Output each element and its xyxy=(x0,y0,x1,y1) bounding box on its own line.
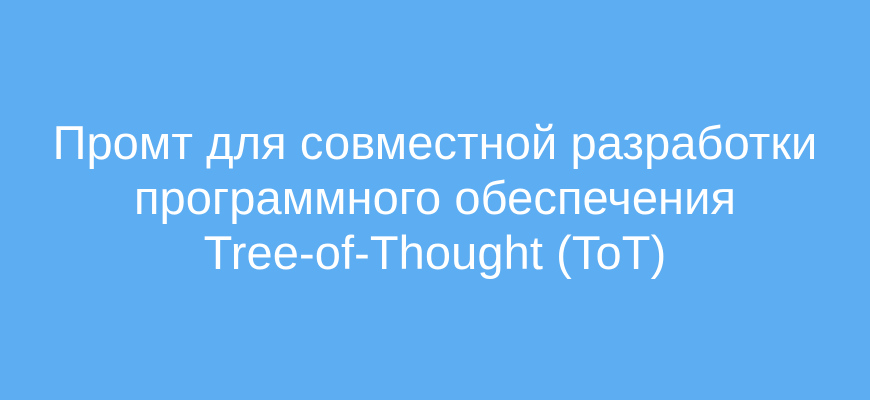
title-card: Промт для совместной разработки программ… xyxy=(0,0,870,400)
page-title-line-2: программного обеспечения xyxy=(40,170,830,225)
page-title-line-3: Tree-of-Thought (ToT) xyxy=(40,225,830,280)
page-title-line-1: Промт для совместной разработки xyxy=(40,115,830,170)
page-title: Промт для совместной разработки программ… xyxy=(0,115,870,280)
